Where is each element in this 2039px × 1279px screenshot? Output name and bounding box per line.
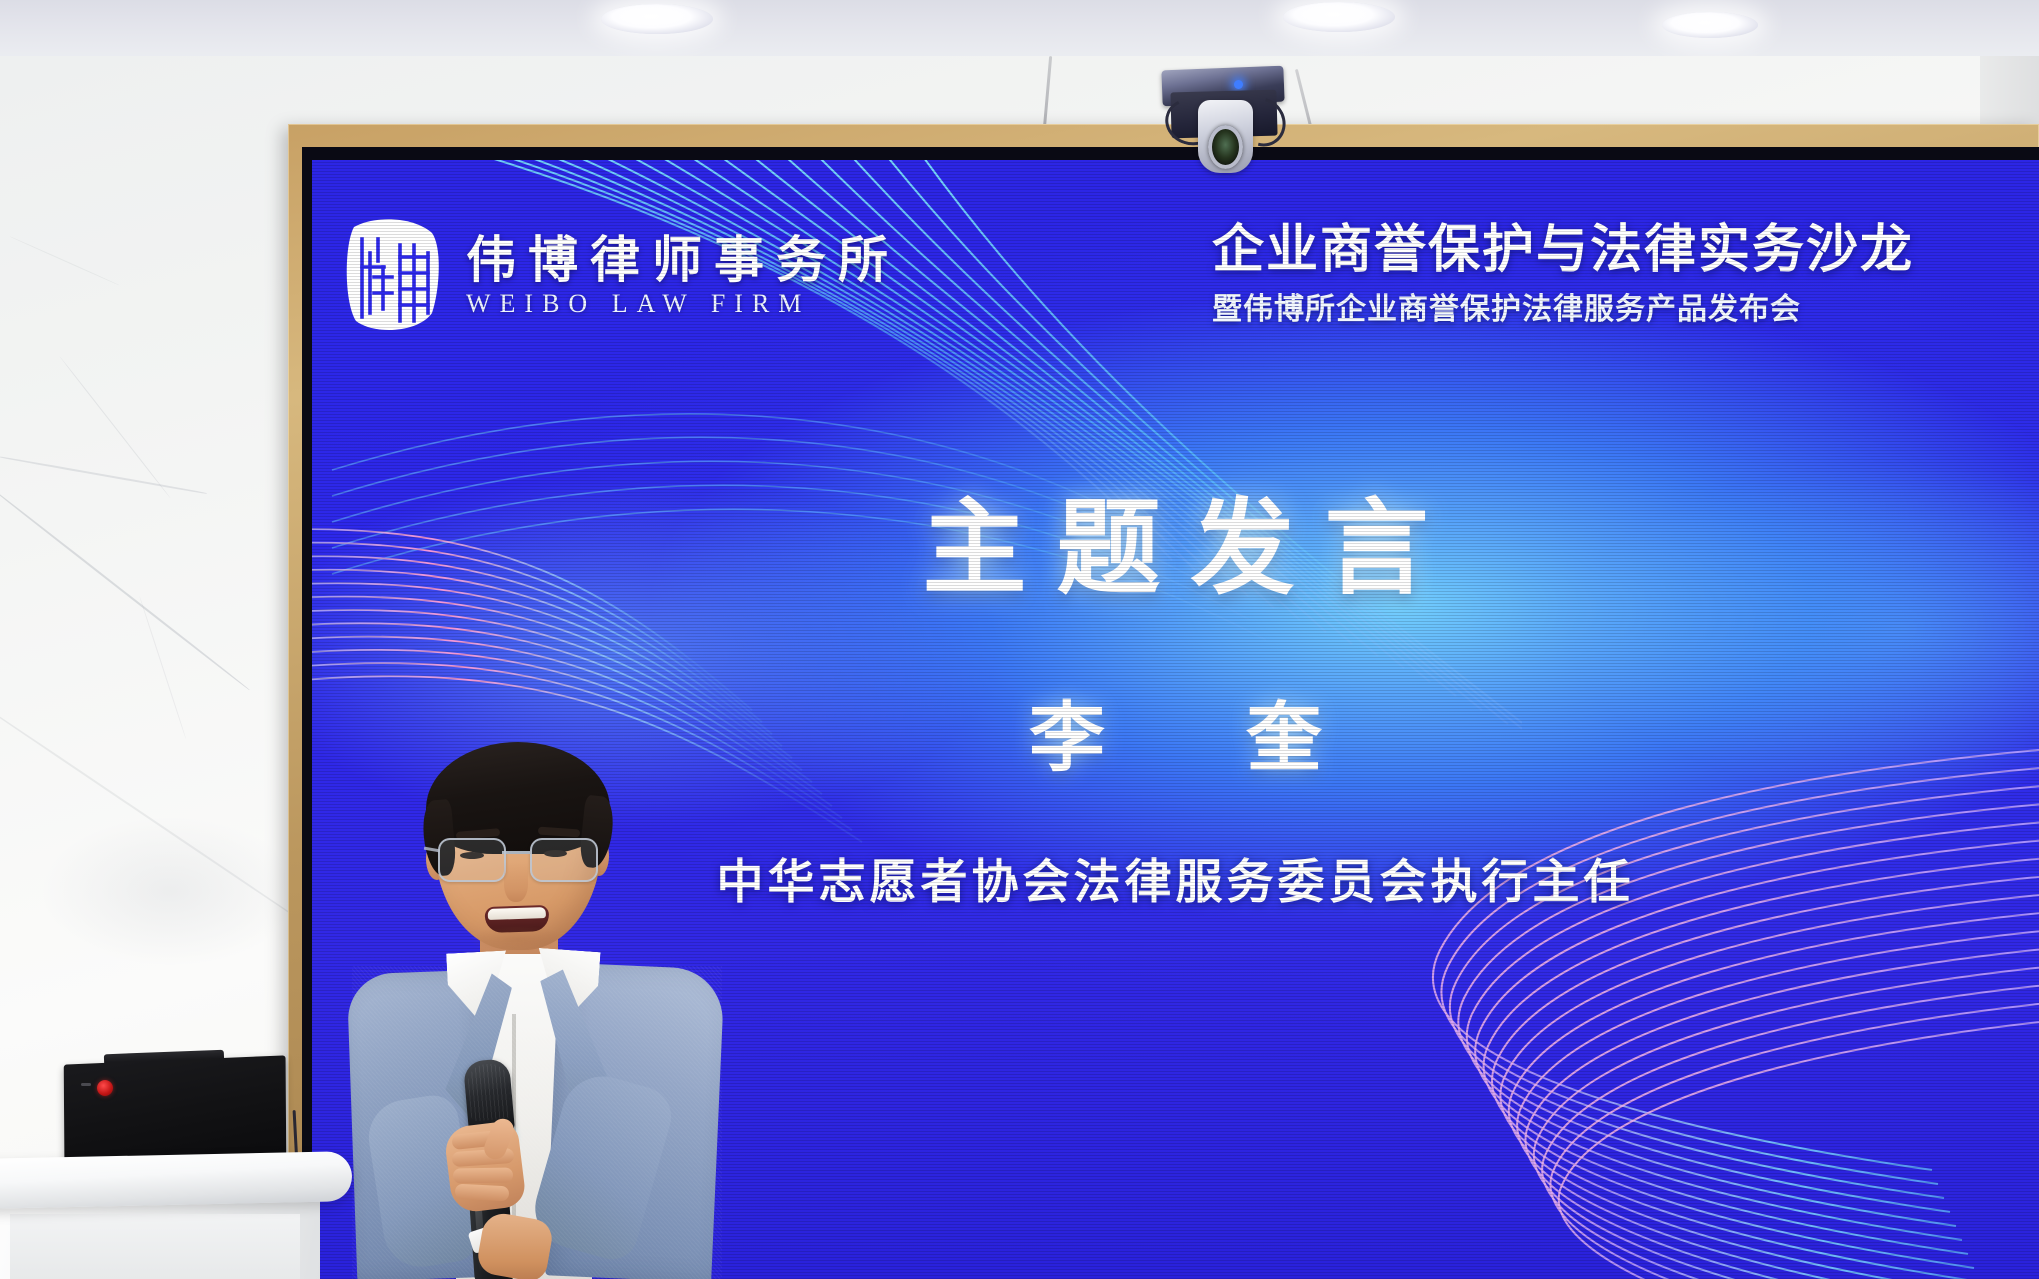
lectern-top-rail [0, 1151, 352, 1209]
microphone-grille [467, 1062, 512, 1121]
marble-vein [0, 486, 250, 691]
laptop-brand-mark [81, 1083, 91, 1086]
marble-shading [40, 816, 300, 966]
marble-vein [10, 236, 120, 286]
firm-logo: 伟博律师事务所 WEIBO LAW FIRM [340, 217, 900, 335]
marble-vein [0, 456, 207, 494]
camera-lens-icon [1208, 125, 1243, 169]
person-teeth [488, 907, 546, 920]
eyeglass-bridge [502, 851, 530, 854]
event-headline: 企业商誉保护与法律实务沙龙 暨伟博所企业商誉保护法律服务产品发布会 [1212, 220, 2039, 328]
event-headline-sub: 暨伟博所企业商誉保护法律服务产品发布会 [1212, 284, 2039, 328]
conference-photo-scene: 伟博律师事务所 WEIBO LAW FIRM 企业商誉保护与法律实务沙龙 暨伟博… [0, 0, 2039, 1279]
firm-name-cn: 伟博律师事务所 [466, 233, 900, 287]
eyeglass-lens-right [530, 838, 598, 882]
eyeglass-lens-left [438, 838, 506, 882]
decorative-line-swirl-icon [1072, 700, 2039, 1279]
ceiling-downlight-icon [1283, 2, 1395, 32]
person-chin-shading [470, 926, 566, 952]
laptop-brand-dot-icon [97, 1080, 113, 1096]
person-finger [453, 1167, 513, 1183]
ceiling-downlight-icon [1662, 12, 1758, 38]
event-headline-main: 企业商誉保护与法律实务沙龙 [1212, 220, 2039, 280]
camera-status-led-icon [1234, 80, 1243, 89]
marble-vein [139, 596, 187, 739]
speaker-person [352, 726, 722, 1279]
person-finger [455, 1184, 510, 1202]
lectern-body-front [10, 1214, 300, 1279]
ceiling-video-camera [1155, 63, 1290, 175]
slide-main-title: 主题发言 [312, 463, 2039, 614]
firm-name-en: WEIBO LAW FIRM [466, 289, 900, 319]
firm-seal-icon [340, 217, 444, 335]
person-nose [504, 862, 528, 902]
ceiling-downlight-icon [601, 4, 713, 34]
